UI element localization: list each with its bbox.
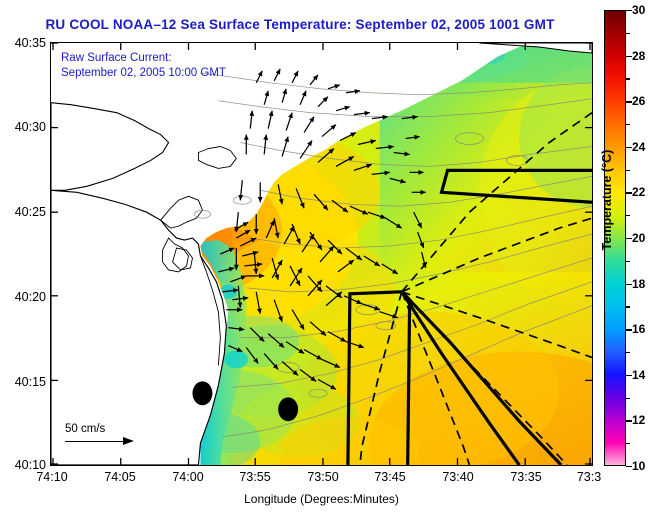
colorbar-minor-tick <box>626 398 630 399</box>
x-tick-label-1: 74:05 <box>104 470 135 484</box>
x-tick-label-6: 73:40 <box>442 470 473 484</box>
y-tick-label-0: 40:35 <box>0 36 46 50</box>
x-tick-label-7: 73:35 <box>510 470 541 484</box>
x-axis-label: Longitude (Degrees:Minutes) <box>50 492 593 506</box>
sst-map-figure: RU COOL NOAA–12 Sea Surface Temperature:… <box>0 0 651 518</box>
x-tick-label-3: 73:55 <box>239 470 270 484</box>
colorbar-tick-label-14: 14 <box>632 368 645 382</box>
station-marker-1[interactable] <box>192 381 212 405</box>
colorbar-tick-label-26: 26 <box>632 94 645 108</box>
colorbar-tick-label-20: 20 <box>632 231 645 245</box>
annotation-line-2: September 02, 2005 10:00 GMT <box>61 66 226 81</box>
colorbar-minor-tick <box>626 352 630 353</box>
x-tick-label-5: 73:45 <box>374 470 405 484</box>
colorbar-tick-label-24: 24 <box>632 140 645 154</box>
colorbar-minor-tick <box>626 78 630 79</box>
scale-bar-label: 50 cm/s <box>65 423 137 435</box>
colorbar-tick-label-10: 10 <box>632 459 645 473</box>
colorbar-minor-tick <box>626 170 630 171</box>
station-marker-2[interactable] <box>278 397 298 421</box>
colorbar-minor-tick <box>626 261 630 262</box>
velocity-scale-bar: 50 cm/s <box>65 423 137 447</box>
y-tick-label-4: 40:15 <box>0 375 46 389</box>
colorbar-tick-label-22: 22 <box>632 185 645 199</box>
figure-title: RU COOL NOAA–12 Sea Surface Temperature:… <box>0 17 600 32</box>
sst-map-canvas <box>51 43 592 465</box>
x-tick-label-4: 73:50 <box>307 470 338 484</box>
map-plot-area[interactable]: Raw Surface Current: September 02, 2005 … <box>50 42 593 466</box>
x-tick-label-8: 73:3 <box>577 470 601 484</box>
y-tick-label-1: 40:30 <box>0 120 46 134</box>
colorbar-minor-tick <box>626 443 630 444</box>
colorbar-label: Temperature (°C) <box>600 100 614 300</box>
annotation-line-1: Raw Surface Current: <box>61 51 226 66</box>
colorbar-tick-label-18: 18 <box>632 277 645 291</box>
x-tick-label-2: 74:00 <box>172 470 203 484</box>
x-tick-label-0: 74:10 <box>36 470 67 484</box>
y-tick-label-3: 40:20 <box>0 290 46 304</box>
colorbar-minor-tick <box>626 306 630 307</box>
colorbar-tick-label-28: 28 <box>632 49 645 63</box>
colorbar-minor-tick <box>626 33 630 34</box>
scale-bar-arrow-icon <box>65 437 137 447</box>
colorbar-minor-tick <box>626 124 630 125</box>
current-annotation: Raw Surface Current: September 02, 2005 … <box>61 51 226 81</box>
colorbar-minor-tick <box>626 215 630 216</box>
colorbar-tick-label-30: 30 <box>632 3 645 17</box>
colorbar-tick-label-12: 12 <box>632 413 645 427</box>
y-tick-label-2: 40:25 <box>0 205 46 219</box>
colorbar-tick-label-16: 16 <box>632 322 645 336</box>
